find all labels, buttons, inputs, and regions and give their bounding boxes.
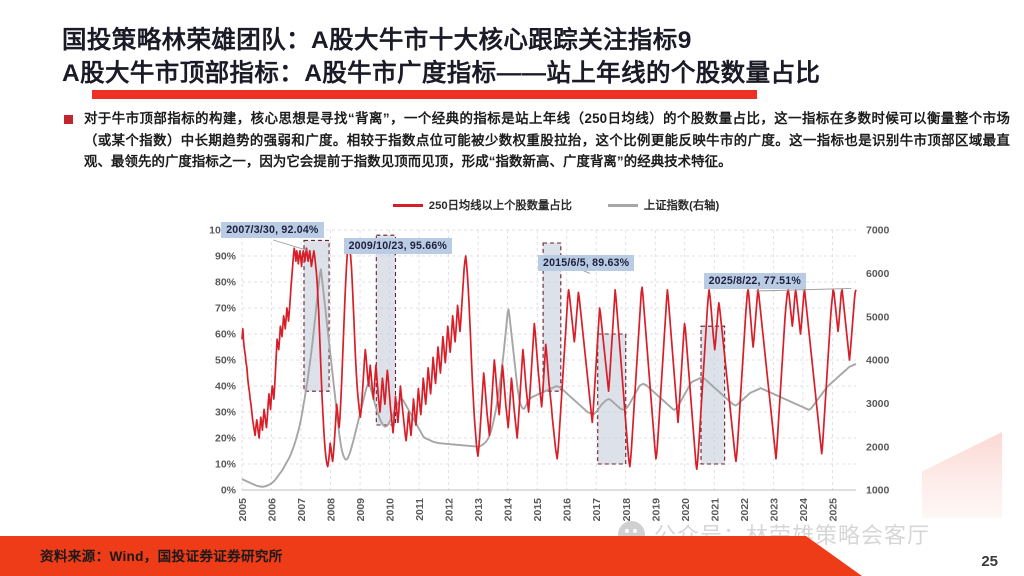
legend-item-ratio: 250日均线以上个股数量占比 <box>393 197 572 213</box>
chart-callout: 2015/6/5, 89.63% <box>538 255 634 271</box>
svg-text:5000: 5000 <box>866 311 890 323</box>
title-line-1: 国投策略林荣雄团队：A股大牛市十大核心跟踪关注指标9 <box>62 24 1012 57</box>
svg-text:60%: 60% <box>215 329 237 341</box>
svg-text:2013: 2013 <box>473 498 485 522</box>
source-text: 资料来源：Wind，国投证券证券研究所 <box>40 545 283 565</box>
svg-text:2017: 2017 <box>591 498 603 522</box>
page-number: 25 <box>981 553 998 570</box>
svg-text:4000: 4000 <box>866 355 890 367</box>
svg-text:20%: 20% <box>215 433 237 445</box>
svg-text:50%: 50% <box>215 355 237 367</box>
svg-text:2018: 2018 <box>621 498 633 522</box>
svg-text:2012: 2012 <box>444 498 456 522</box>
page-title: 国投策略林荣雄团队：A股大牛市十大核心跟踪关注指标9 A股大牛市顶部指标：A股牛… <box>62 24 1012 90</box>
svg-text:2014: 2014 <box>503 498 515 522</box>
svg-text:2009: 2009 <box>355 498 367 522</box>
chart-callout: 2007/3/30, 92.04% <box>221 222 323 238</box>
svg-text:2021: 2021 <box>709 498 721 522</box>
svg-text:2022: 2022 <box>739 498 751 522</box>
svg-text:70%: 70% <box>215 303 237 315</box>
svg-text:10%: 10% <box>215 459 237 471</box>
legend-swatch-ratio <box>393 204 423 207</box>
svg-text:1000: 1000 <box>866 485 890 497</box>
svg-text:7000: 7000 <box>866 225 890 237</box>
svg-text:90%: 90% <box>215 251 237 263</box>
svg-text:2020: 2020 <box>680 498 692 522</box>
svg-text:2000: 2000 <box>866 441 890 453</box>
svg-text:2019: 2019 <box>650 498 662 522</box>
svg-text:40%: 40% <box>215 381 237 393</box>
body-paragraph-text: 对于牛市顶部指标的构建，核心思想是寻找“背离”，一个经典的指标是站上年线（250… <box>84 108 1010 173</box>
legend-item-index: 上证指数(右轴) <box>608 197 719 213</box>
legend-label-index: 上证指数(右轴) <box>644 197 719 213</box>
svg-text:80%: 80% <box>215 277 237 289</box>
svg-text:0%: 0% <box>221 485 237 497</box>
body-paragraph-block: 对于牛市顶部指标的构建，核心思想是寻找“背离”，一个经典的指标是站上年线（250… <box>64 108 1010 173</box>
slide-root: 国投策略林荣雄团队：A股大牛市十大核心跟踪关注指标9 A股大牛市顶部指标：A股牛… <box>0 0 1024 576</box>
bullet-square-icon <box>64 115 73 124</box>
svg-text:2010: 2010 <box>385 498 397 522</box>
chart-callout: 2025/8/22, 77.51% <box>704 273 806 289</box>
svg-text:2025: 2025 <box>827 498 839 522</box>
svg-text:2005: 2005 <box>237 498 249 522</box>
svg-text:6000: 6000 <box>866 268 890 280</box>
chart-container: 250日均线以上个股数量占比 上证指数(右轴) 0%10%20%30%40%50… <box>196 192 916 544</box>
svg-text:2008: 2008 <box>326 498 338 522</box>
svg-text:2024: 2024 <box>798 498 810 522</box>
svg-text:2015: 2015 <box>532 498 544 522</box>
svg-text:2016: 2016 <box>562 498 574 522</box>
svg-text:2023: 2023 <box>768 498 780 522</box>
title-underline <box>92 90 757 99</box>
svg-text:3000: 3000 <box>866 398 890 410</box>
legend-swatch-index <box>608 204 638 207</box>
svg-text:2006: 2006 <box>267 498 279 522</box>
svg-text:2007: 2007 <box>296 498 308 522</box>
svg-text:30%: 30% <box>215 407 237 419</box>
title-line-2: A股大牛市顶部指标：A股牛市广度指标——站上年线的个股数量占比 <box>62 57 1012 90</box>
chart-callout: 2009/10/23, 95.66% <box>344 238 452 254</box>
chart-svg: 0%10%20%30%40%50%60%70%80%90%100%1000200… <box>196 192 916 544</box>
chart-legend: 250日均线以上个股数量占比 上证指数(右轴) <box>196 192 916 218</box>
legend-label-ratio: 250日均线以上个股数量占比 <box>429 197 572 213</box>
decorative-triangle <box>922 432 1002 518</box>
svg-text:2011: 2011 <box>414 498 426 521</box>
